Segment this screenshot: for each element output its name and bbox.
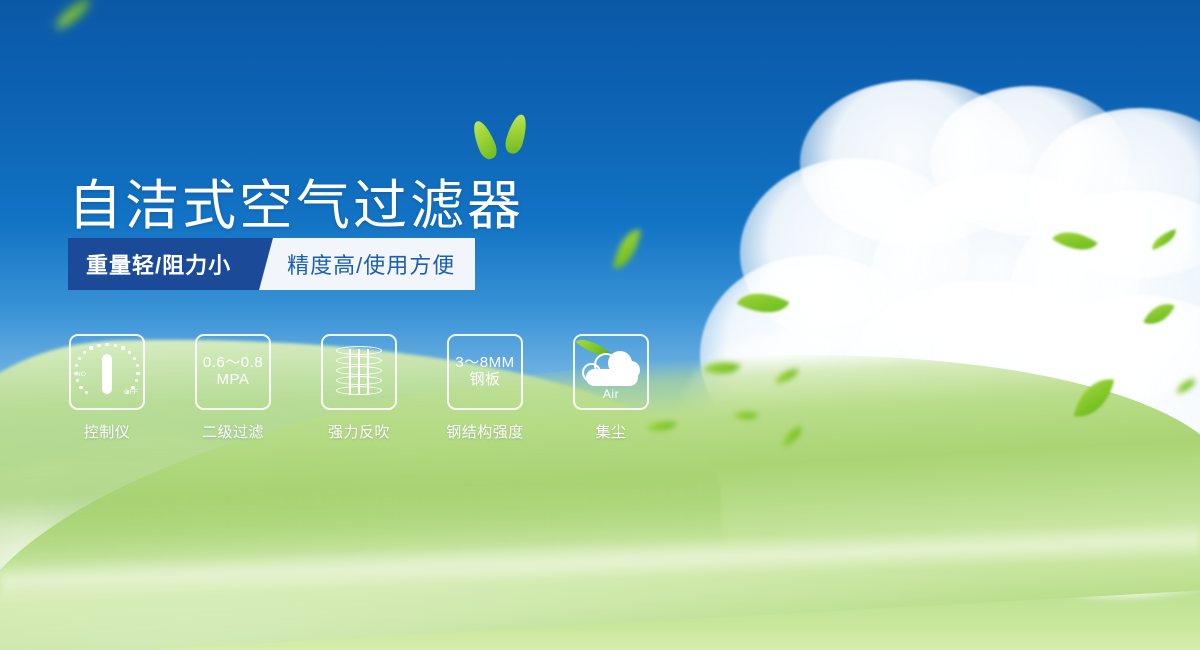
feature-item-steel[interactable]: 3〜8MM 钢板 钢结构强度 xyxy=(446,334,524,442)
feature-box: NO OFF xyxy=(69,334,145,410)
feature-item-pressure[interactable]: 0.6〜0.8 MPA 二级过滤 xyxy=(194,334,272,442)
subtitle-right-text: 精度高/使用方便 xyxy=(281,238,475,290)
steel-thickness: 3〜8MM xyxy=(455,355,514,372)
sprout-leaf-left xyxy=(469,118,500,161)
feature-label: 集尘 xyxy=(595,421,626,442)
cloud-puff xyxy=(1010,190,1200,395)
feature-list: NO OFF 控制仪 0.6〜0.8 MPA 二级过滤 xyxy=(68,334,650,442)
feature-label: 二级过滤 xyxy=(202,421,264,442)
subtitle-bar: 重量轻/阻力小 精度高/使用方便 xyxy=(68,238,475,290)
cloud-base xyxy=(586,369,638,386)
cloud-puff xyxy=(800,80,1030,245)
sprout-leaves-icon xyxy=(470,108,542,166)
feature-box xyxy=(321,334,397,410)
leaf-icon xyxy=(613,227,641,272)
feature-box: 0.6〜0.8 MPA xyxy=(195,334,271,410)
cloud-puff xyxy=(930,86,1130,236)
cloud-puff xyxy=(870,172,1140,387)
feature-item-backblow[interactable]: 强力反吹 xyxy=(320,334,398,442)
sprout-leaf-right xyxy=(503,112,530,155)
steel-material: 钢板 xyxy=(455,372,514,389)
gauge-label-off: OFF xyxy=(124,389,138,396)
air-label: Air xyxy=(580,387,642,401)
page-title: 自洁式空气过滤器 xyxy=(68,179,524,233)
leaf-icon xyxy=(51,0,96,30)
feature-label: 钢结构强度 xyxy=(446,421,524,442)
feature-box: 3〜8MM 钢板 xyxy=(447,334,523,410)
feature-item-controller[interactable]: NO OFF 控制仪 xyxy=(68,334,146,442)
product-banner: 自洁式空气过滤器 重量轻/阻力小 精度高/使用方便 xyxy=(0,0,1200,650)
pressure-value: 0.6〜0.8 xyxy=(203,355,263,372)
air-cloud-icon: Air xyxy=(580,345,642,399)
feature-label: 控制仪 xyxy=(84,421,131,442)
gauge-icon: NO OFF xyxy=(72,337,142,407)
feature-label: 强力反吹 xyxy=(328,421,390,442)
filter-coil-icon xyxy=(336,346,382,398)
cloud-puff xyxy=(740,158,970,348)
pressure-unit: MPA xyxy=(203,372,263,389)
pressure-text-icon: 0.6〜0.8 MPA xyxy=(203,355,263,389)
feature-box: Air xyxy=(573,334,649,410)
feature-item-dust[interactable]: Air 集尘 xyxy=(572,334,650,442)
steel-plate-text-icon: 3〜8MM 钢板 xyxy=(455,355,514,389)
subtitle-diagonal-divider xyxy=(255,238,281,290)
subtitle-left-text: 重量轻/阻力小 xyxy=(68,238,255,290)
cloud-puff xyxy=(1030,108,1200,278)
gauge-label-no: NO xyxy=(76,371,86,378)
gauge-needle xyxy=(102,354,112,394)
